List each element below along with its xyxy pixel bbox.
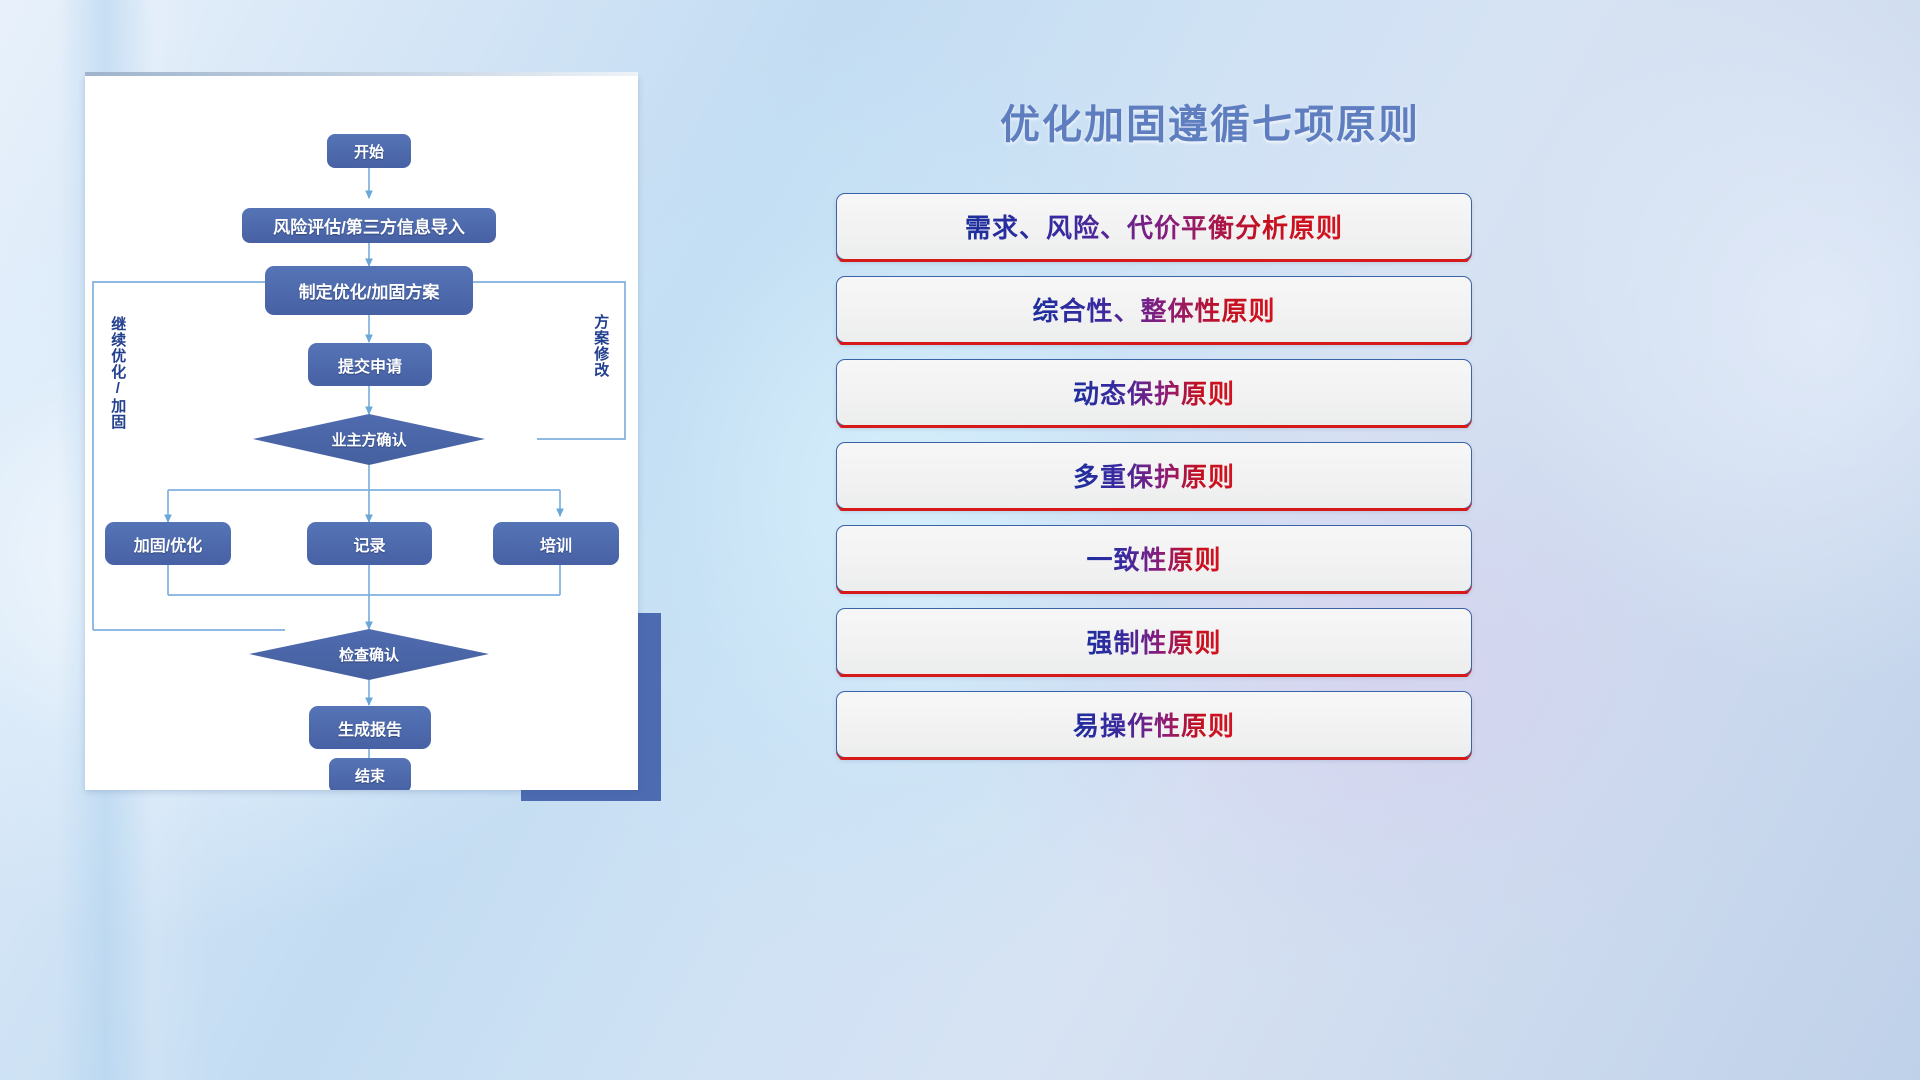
flowchart-panel: 开始 风险评估/第三方信息导入 制定优化/加固方案 提交申请 业主方确认 加固/… bbox=[85, 76, 638, 790]
principle-label: 强制性原则 bbox=[1086, 623, 1221, 660]
principle-label: 需求、风险、代价平衡分析原则 bbox=[965, 208, 1343, 245]
principle-label: 一致性原则 bbox=[1086, 540, 1221, 577]
flowchart-connectors bbox=[85, 76, 638, 790]
principle-card-7[interactable]: 易操作性原则 bbox=[836, 691, 1472, 758]
principle-card-6[interactable]: 强制性原则 bbox=[836, 608, 1472, 675]
principle-label: 动态保护原则 bbox=[1073, 374, 1235, 411]
flow-edge-label-plan-revision: 方案修改 bbox=[593, 314, 608, 406]
principle-card-4[interactable]: 多重保护原则 bbox=[836, 442, 1472, 509]
flow-edge-label-continue-optimize: 继续优化/加固 bbox=[110, 316, 125, 446]
principles-list: 需求、风险、代价平衡分析原则 综合性、整体性原则 动态保护原则 多重保护原则 一… bbox=[836, 193, 1472, 774]
principle-label: 综合性、整体性原则 bbox=[1032, 291, 1275, 328]
principle-label: 易操作性原则 bbox=[1073, 706, 1235, 743]
principle-card-1[interactable]: 需求、风险、代价平衡分析原则 bbox=[836, 193, 1472, 260]
principle-card-5[interactable]: 一致性原则 bbox=[836, 525, 1472, 592]
principle-card-3[interactable]: 动态保护原则 bbox=[836, 359, 1472, 426]
principle-card-2[interactable]: 综合性、整体性原则 bbox=[836, 276, 1472, 343]
principle-label: 多重保护原则 bbox=[1073, 457, 1235, 494]
page-title: 优化加固遵循七项原则 bbox=[930, 92, 1490, 150]
